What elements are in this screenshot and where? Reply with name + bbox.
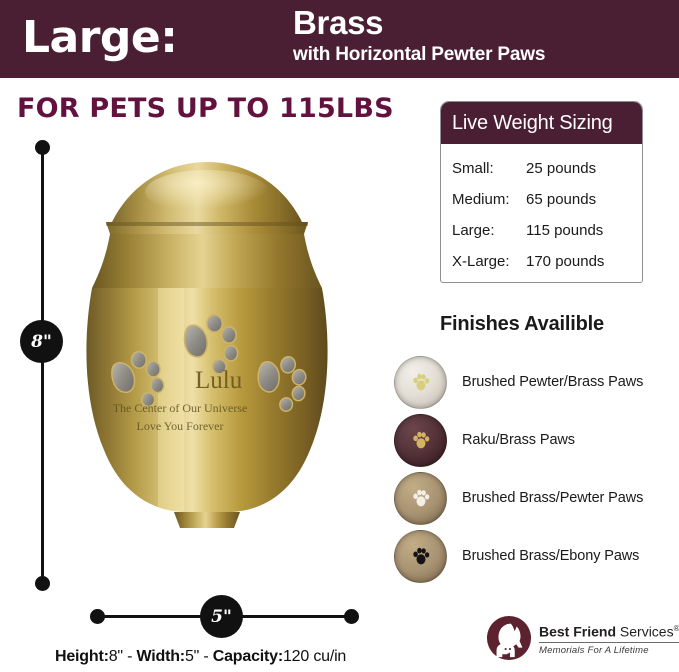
sizing-rows: Small: 25 pounds Medium: 65 pounds Large… <box>441 144 642 277</box>
urn-base <box>174 512 240 528</box>
header-banner: Large: Brass with Horizontal Pewter Paws <box>0 0 679 78</box>
specs-sep-2: - <box>199 648 213 665</box>
paw-icon <box>409 486 433 510</box>
finish-label-brushed-pewter-brass: Brushed Pewter/Brass Paws <box>462 374 643 390</box>
specs-height-value: 8" <box>109 648 123 665</box>
sizing-row-large: Large: 115 pounds <box>452 215 642 246</box>
finish-label-raku-brass: Raku/Brass Paws <box>462 432 575 448</box>
urn-product-image: Lulu The Center of Our Universe Love You… <box>62 160 352 590</box>
finish-option-brushed-brass-ebony[interactable]: Brushed Brass/Ebony Paws <box>394 527 679 585</box>
finish-swatch-brushed-brass-ebony <box>394 530 447 583</box>
height-dimension-label: 8" <box>20 320 63 363</box>
width-dimension-indicator: 5" <box>90 600 360 634</box>
brand-registered-mark: ® <box>674 624 679 633</box>
product-infographic: Large: Brass with Horizontal Pewter Paws… <box>0 0 679 672</box>
paw-icon <box>409 370 433 394</box>
brand-tagline: Memorials For A Lifetime <box>539 645 679 656</box>
urn-lid-highlight <box>145 170 269 214</box>
urn-illustration: Lulu The Center of Our Universe Love You… <box>62 160 352 590</box>
specs-width-value: 5" <box>185 648 199 665</box>
specs-line: Height:8" - Width:5" - Capacity:120 cu/i… <box>55 648 346 666</box>
finish-swatch-brushed-pewter-brass <box>394 356 447 409</box>
finishes-list: Brushed Pewter/Brass Paws Raku/Brass Paw… <box>394 353 679 585</box>
paw-icon <box>409 544 433 568</box>
specs-height-key: Height: <box>55 648 109 665</box>
width-cap-right <box>344 609 359 624</box>
width-dimension-label: 5" <box>200 595 243 638</box>
specs-sep-1: - <box>123 648 137 665</box>
sizing-label-medium: Medium: <box>452 184 526 215</box>
finish-option-raku-brass[interactable]: Raku/Brass Paws <box>394 411 679 469</box>
sizing-value-large: 115 pounds <box>526 215 642 246</box>
pets-capacity-headline: FOR PETS UP TO 115LBS <box>17 93 394 125</box>
live-weight-sizing-box: Live Weight Sizing Small: 25 pounds Medi… <box>440 101 643 283</box>
sizing-box-header: Live Weight Sizing <box>441 102 642 144</box>
specs-capacity-value: 120 cu/in <box>283 648 346 665</box>
sizing-row-medium: Medium: 65 pounds <box>452 184 642 215</box>
urn-lid-rim-shadow <box>106 222 308 226</box>
brand-name-regular: Services <box>616 624 674 640</box>
sizing-value-medium: 65 pounds <box>526 184 642 215</box>
sizing-value-small: 25 pounds <box>526 153 642 184</box>
height-dimension-indicator: 8" <box>30 140 54 590</box>
brand-logo: Best Friend Services® Memorials For A Li… <box>486 612 676 664</box>
height-cap-bottom <box>35 576 50 591</box>
brand-divider <box>539 642 679 643</box>
finish-swatch-brushed-brass-pewter <box>394 472 447 525</box>
specs-capacity-key: Capacity: <box>213 648 283 665</box>
finish-label-brushed-brass-pewter: Brushed Brass/Pewter Paws <box>462 490 643 506</box>
finishes-section-title: Finishes Availible <box>440 313 604 336</box>
height-dimension-line <box>41 148 44 583</box>
sizing-box-title: Live Weight Sizing <box>452 112 613 135</box>
sizing-label-xlarge: X-Large: <box>452 246 526 277</box>
header-size-label: Large: <box>22 12 177 64</box>
urn-engraving-name: Lulu <box>195 367 243 394</box>
header-subtitle: with Horizontal Pewter Paws <box>293 44 545 66</box>
finish-label-brushed-brass-ebony: Brushed Brass/Ebony Paws <box>462 548 639 564</box>
sizing-label-small: Small: <box>452 153 526 184</box>
sizing-row-xlarge: X-Large: 170 pounds <box>452 246 642 277</box>
urn-engraving-line2: Love You Forever <box>137 419 224 433</box>
dog-cat-logo-icon <box>486 615 532 661</box>
brand-name: Best Friend Services® <box>539 620 679 641</box>
finish-option-brushed-brass-pewter[interactable]: Brushed Brass/Pewter Paws <box>394 469 679 527</box>
urn-neck <box>92 234 322 288</box>
sizing-value-xlarge: 170 pounds <box>526 246 642 277</box>
urn-engraving-line1: The Center of Our Universe <box>113 401 248 415</box>
finish-option-brushed-pewter-brass[interactable]: Brushed Pewter/Brass Paws <box>394 353 679 411</box>
brand-text-block: Best Friend Services® Memorials For A Li… <box>539 620 679 656</box>
paw-icon <box>409 428 433 452</box>
sizing-row-small: Small: 25 pounds <box>452 153 642 184</box>
header-material-title: Brass <box>293 5 383 41</box>
brand-name-bold: Best Friend <box>539 624 616 640</box>
finish-swatch-raku-brass <box>394 414 447 467</box>
sizing-label-large: Large: <box>452 215 526 246</box>
specs-width-key: Width: <box>137 648 185 665</box>
